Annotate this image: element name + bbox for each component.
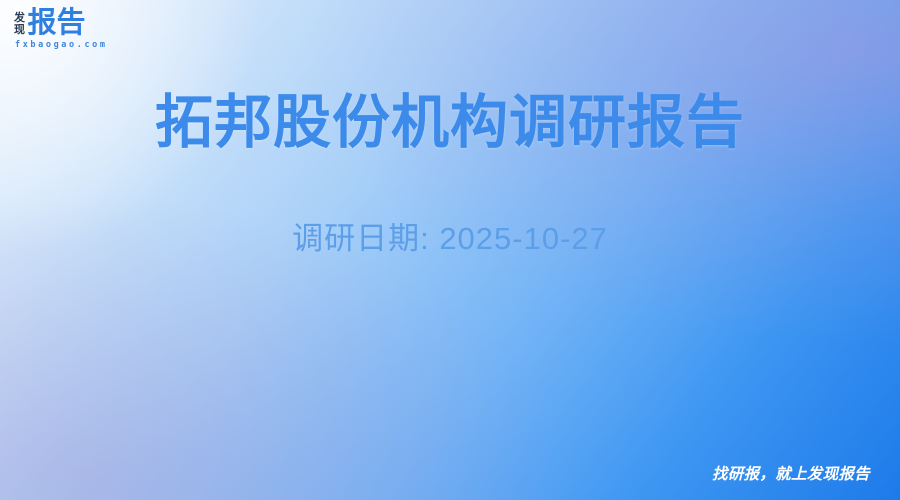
logo-url: fxbaogao.com	[15, 41, 108, 50]
cover-subtitle: 调研日期: 2025-10-27	[0, 220, 900, 258]
logo-wordmark-row: 发 现 报告	[14, 9, 86, 38]
logo-mark-char-1: 发	[14, 12, 25, 24]
report-cover: 发 现 报告 fxbaogao.com 拓邦股份机构调研报告 调研日期: 202…	[0, 0, 900, 500]
logo-mark-stack: 发 现	[14, 12, 25, 38]
footer-tagline: 找研报，就上发现报告	[712, 462, 870, 484]
cover-text-block: 拓邦股份机构调研报告 调研日期: 2025-10-27	[0, 88, 900, 258]
logo-mark-char-2: 现	[14, 24, 25, 36]
page-title: 拓邦股份机构调研报告	[0, 88, 900, 158]
site-logo[interactable]: 发 现 报告 fxbaogao.com	[14, 9, 108, 50]
logo-wordmark: 报告	[28, 9, 86, 38]
